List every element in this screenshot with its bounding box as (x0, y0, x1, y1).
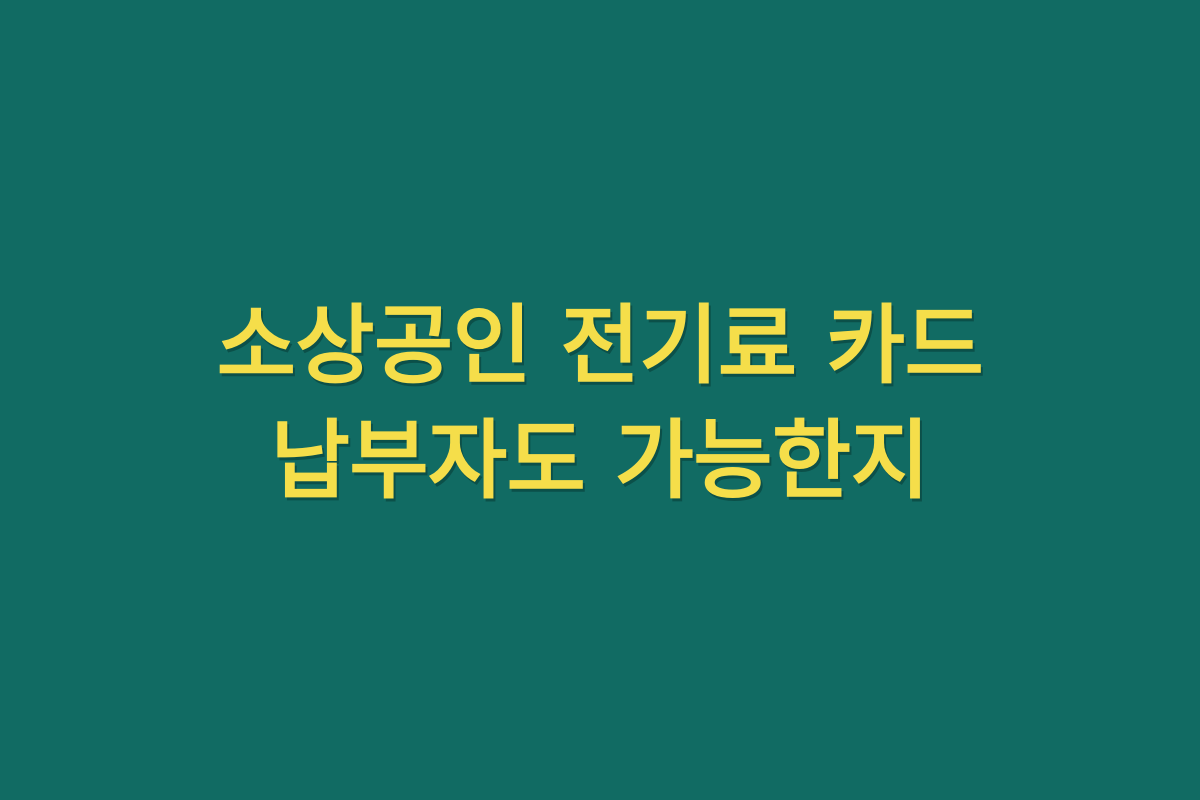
headline-block: 소상공인 전기료 카드 납부자도 가능한지 (70, 289, 1130, 519)
page-title: 소상공인 전기료 카드 납부자도 가능한지 (80, 289, 1120, 519)
title-card: 소상공인 전기료 카드 납부자도 가능한지 (0, 0, 1200, 800)
